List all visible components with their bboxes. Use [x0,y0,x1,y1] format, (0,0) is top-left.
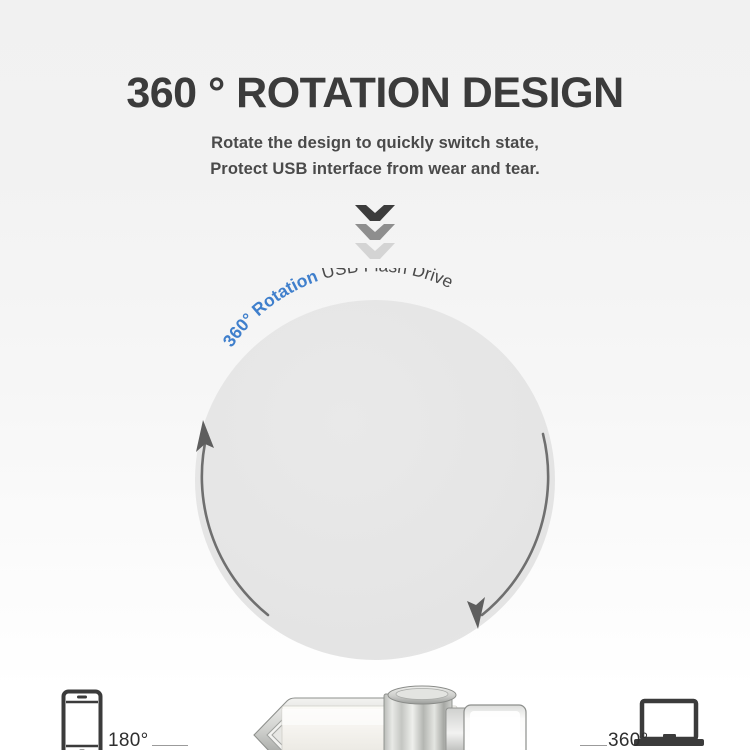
header: 360 ° ROTATION DESIGN Rotate the design … [0,72,750,182]
rotation-arcs: 360° Rotation USB Flash Drive [0,268,750,688]
smartphone-icon [61,689,103,750]
drive-hinge-top-inner [396,689,448,700]
drive-connector-face [470,711,520,750]
leader-line-right [580,745,607,746]
rotation-diagram: 360° Rotation USB Flash Drive [0,268,750,688]
leader-line-left [152,745,188,746]
page-subtitle: Rotate the design to quickly switch stat… [0,131,750,182]
chevron-down-icon [355,224,395,241]
chevron-down-icon [355,243,395,260]
product-infographic: 360 ° ROTATION DESIGN Rotate the design … [0,0,750,750]
usb-flash-drive-image [232,653,542,750]
arc-label: 360° Rotation USB Flash Drive [219,268,457,350]
subtitle-line-1: Rotate the design to quickly switch stat… [0,131,750,157]
degree-label-right: 360° [608,730,649,750]
rotation-arc-left [202,434,268,615]
degree-label-left: 180° [108,730,149,750]
rotation-arc-right [482,434,548,615]
chevron-stack [0,205,750,260]
subtitle-line-2: Protect USB interface from wear and tear… [0,157,750,183]
rotation-arrow-head-right [467,597,485,629]
chevron-down-icon [355,205,395,222]
page-title: 360 ° ROTATION DESIGN [0,72,750,115]
